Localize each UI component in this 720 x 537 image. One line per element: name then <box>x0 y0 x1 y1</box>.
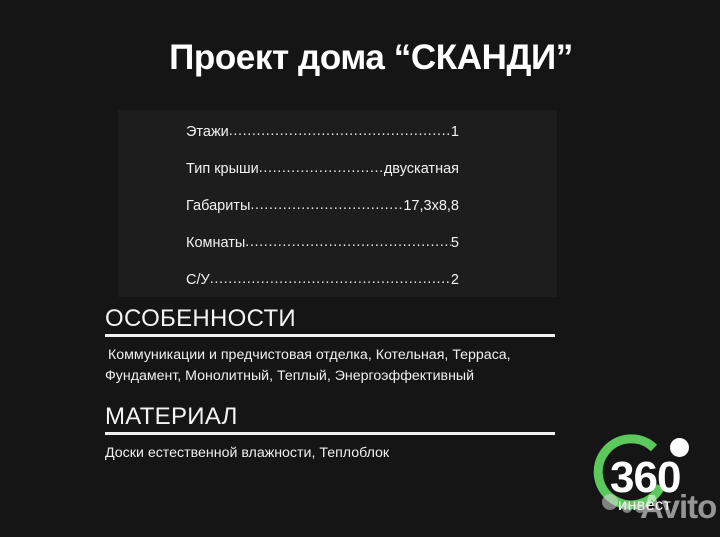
features-heading: ОСОБЕННОСТИ <box>105 306 555 331</box>
spec-row: С/У 2 <box>118 272 557 309</box>
spec-leader-dots <box>210 271 451 287</box>
spec-leader-dots <box>259 160 384 176</box>
material-divider <box>105 432 555 435</box>
spec-value: 5 <box>451 235 459 251</box>
features-line: Коммуникации и предчистовая отделка, Кот… <box>105 345 555 366</box>
spec-label: Этажи <box>186 124 229 140</box>
watermark-dot-icon <box>602 494 618 510</box>
spec-leader-dots <box>250 197 403 213</box>
material-heading: МАТЕРИАЛ <box>105 404 555 429</box>
spec-value: 2 <box>451 272 459 288</box>
spec-row: Комнаты 5 <box>118 235 557 272</box>
watermark-text: Avito <box>640 490 716 523</box>
material-section: МАТЕРИАЛ Доски естественной влажности, Т… <box>105 404 555 464</box>
specs-panel: Этажи 1 Тип крыши двускатная Габариты 17… <box>118 110 557 297</box>
page-title: Проект дома “СКАНДИ” <box>0 38 720 78</box>
features-divider <box>105 334 555 337</box>
spec-label: Тип крыши <box>186 161 259 177</box>
material-line: Доски естественной влажности, Теплоблок <box>105 443 555 464</box>
listing-card: Проект дома “СКАНДИ” Этажи 1 Тип крыши д… <box>0 0 720 537</box>
spec-value: 1 <box>451 124 459 140</box>
material-body: Доски естественной влажности, Теплоблок <box>105 443 555 464</box>
spec-row: Габариты 17,3х8,8 <box>118 198 557 235</box>
spec-label: Комнаты <box>186 235 245 251</box>
avito-watermark: Avito <box>602 490 720 534</box>
spec-label: С/У <box>186 272 210 288</box>
features-line: Фундамент, Монолитный, Теплый, Энергоэфф… <box>105 366 555 387</box>
features-body: Коммуникации и предчистовая отделка, Кот… <box>105 345 555 386</box>
spec-leader-dots <box>229 123 451 139</box>
spec-value: двускатная <box>384 161 459 177</box>
spec-label: Габариты <box>186 198 250 214</box>
features-section: ОСОБЕННОСТИ Коммуникации и предчистовая … <box>105 306 555 386</box>
spec-row: Тип крыши двускатная <box>118 161 557 198</box>
spec-row: Этажи 1 <box>118 124 557 161</box>
watermark-dot-icon <box>622 503 632 513</box>
spec-value: 17,3х8,8 <box>403 198 459 214</box>
spec-leader-dots <box>245 234 451 250</box>
